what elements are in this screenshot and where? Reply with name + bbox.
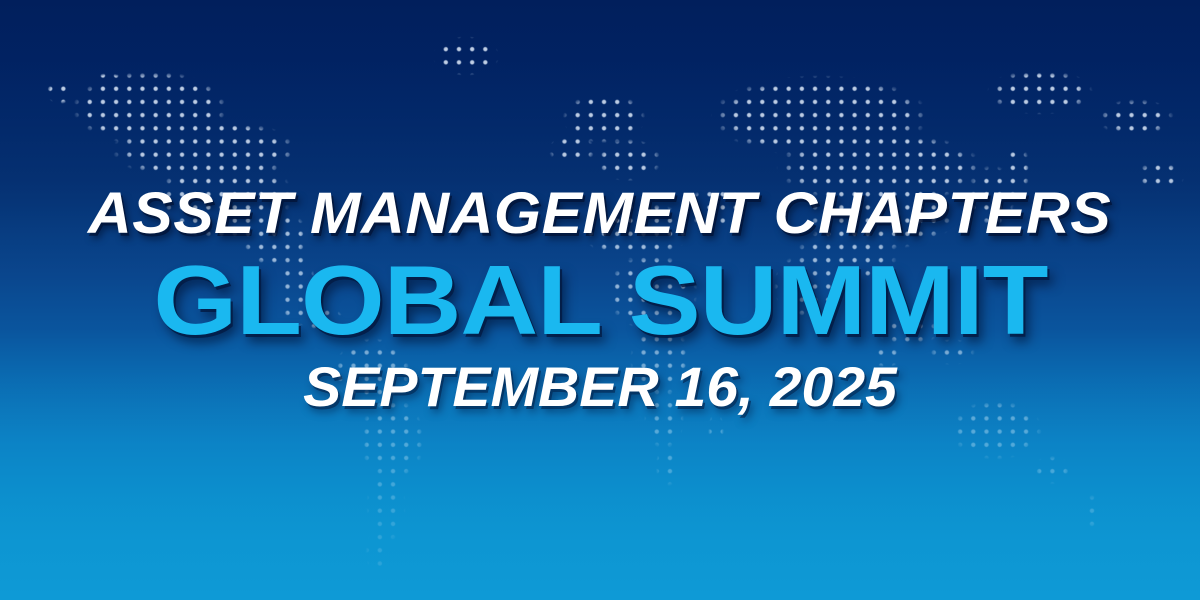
headline-primary: ASSET MANAGEMENT CHAPTERS: [88, 185, 1111, 243]
event-banner: ASSET MANAGEMENT CHAPTERS GLOBAL SUMMIT …: [0, 0, 1200, 600]
banner-content: ASSET MANAGEMENT CHAPTERS GLOBAL SUMMIT …: [0, 0, 1200, 600]
headline-title: GLOBAL SUMMIT: [153, 251, 1047, 349]
event-date: SEPTEMBER 16, 2025: [303, 359, 897, 415]
